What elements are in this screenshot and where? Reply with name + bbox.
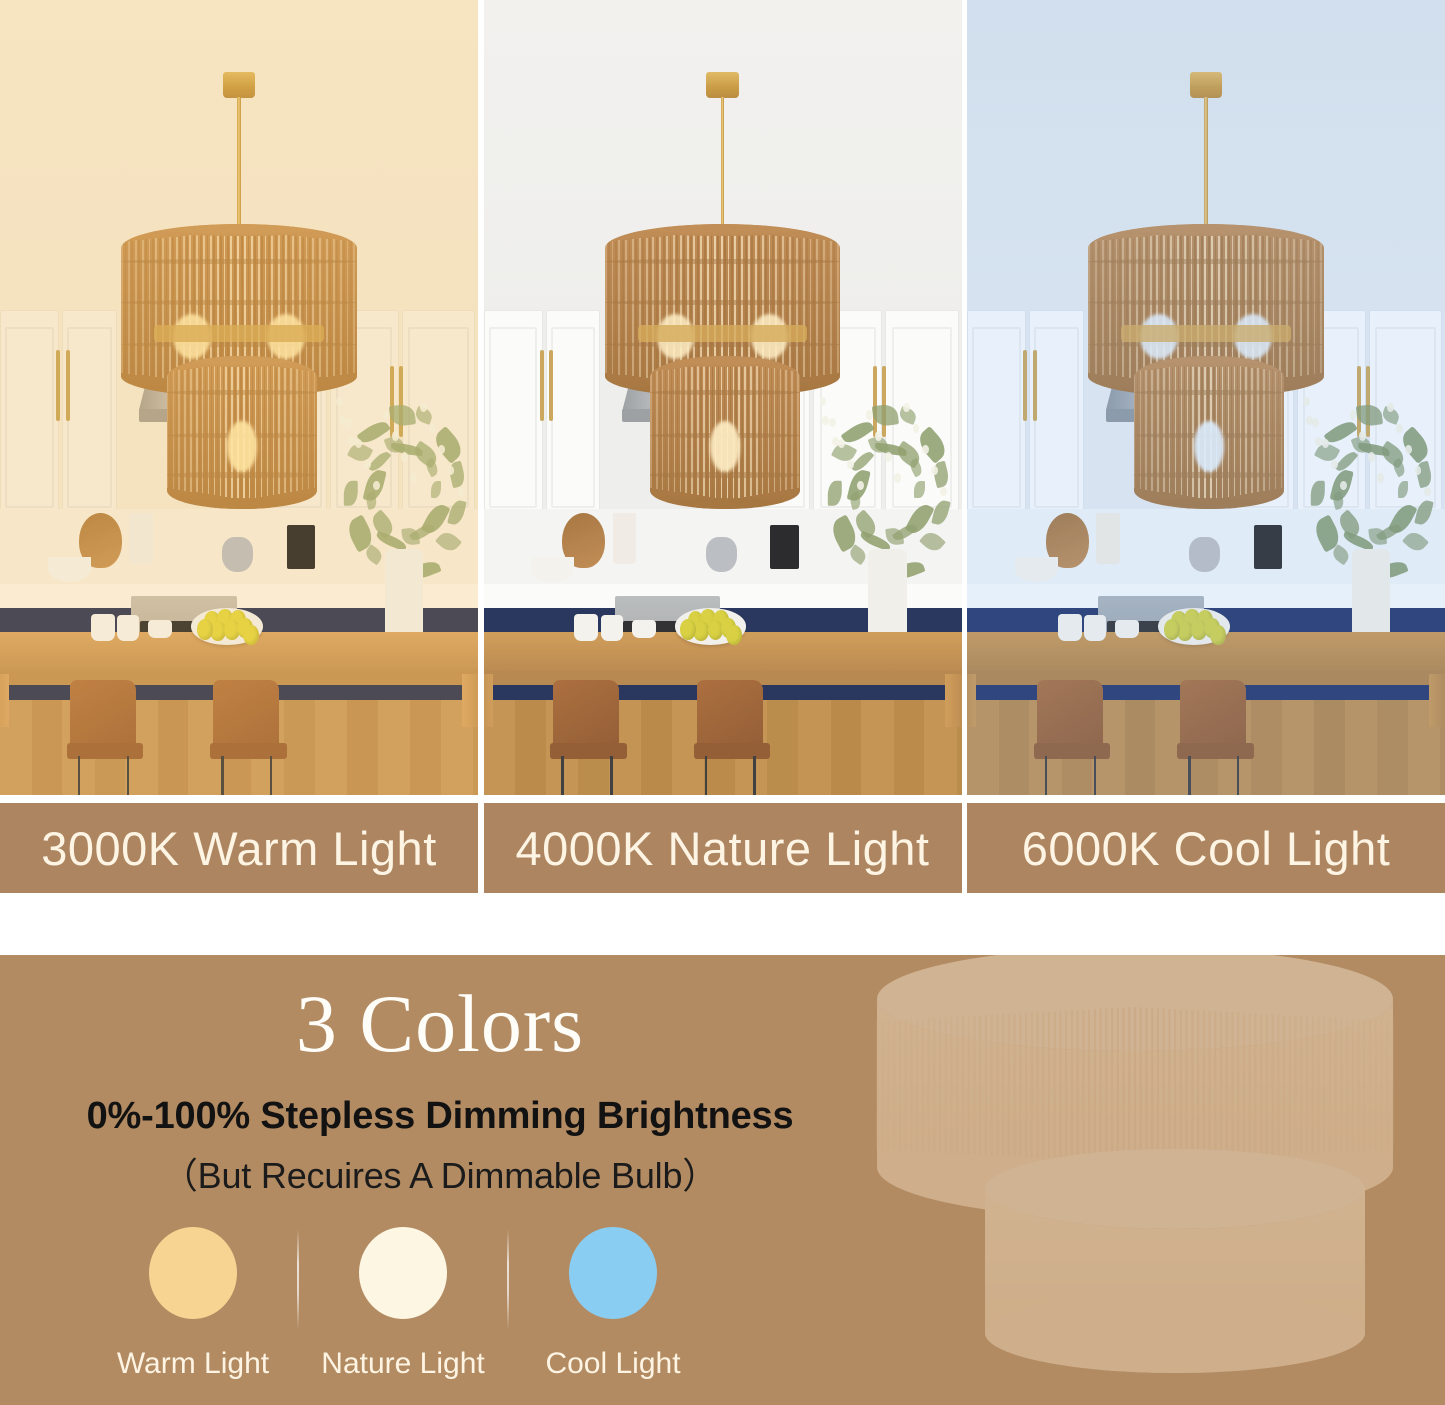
chandelier: [589, 72, 857, 581]
feature-title: 3 Colors: [0, 977, 880, 1071]
label-band-warm: 3000K Warm Light: [0, 803, 478, 893]
chandelier-watermark-icon: [815, 955, 1445, 1405]
label-warm: 3000K Warm Light: [41, 821, 437, 876]
comparison-panel-warm: 3000K Warm Light: [0, 0, 478, 893]
feature-copy: 3 Colors 0%-100% Stepless Dimming Bright…: [0, 955, 880, 1405]
swatch-dot-warm[interactable]: [149, 1227, 237, 1319]
color-swatch-group: Warm Light Nature Light Cool Light: [88, 1227, 778, 1387]
kitchen-photo-nature: [484, 0, 962, 795]
kitchen-scene-warm: [0, 0, 478, 795]
swatch-dot-cool[interactable]: [569, 1227, 657, 1319]
chandelier: [105, 72, 373, 581]
chandelier: [1072, 72, 1340, 581]
label-nature: 4000K Nature Light: [515, 821, 929, 876]
feature-panel: 3 Colors 0%-100% Stepless Dimming Bright…: [0, 955, 1445, 1405]
swatch-label-cool: Cool Light: [545, 1347, 680, 1381]
swatch-warm[interactable]: Warm Light: [88, 1227, 298, 1381]
kitchen-photo-cool: [967, 0, 1445, 795]
kitchen-scene-cool: [967, 0, 1445, 795]
feature-subtitle: 0%-100% Stepless Dimming Brightness: [0, 1095, 880, 1138]
color-temperature-comparison: 3000K Warm Light 4000K Nature Light 6000…: [0, 0, 1445, 893]
swatch-dot-nature[interactable]: [359, 1227, 447, 1319]
comparison-panel-cool: 6000K Cool Light: [967, 0, 1445, 893]
swatch-label-nature: Nature Light: [321, 1347, 484, 1381]
product-feature-image: 3000K Warm Light 4000K Nature Light 6000…: [0, 0, 1445, 1405]
label-cool: 6000K Cool Light: [1022, 821, 1391, 876]
comparison-panel-nature: 4000K Nature Light: [484, 0, 962, 893]
kitchen-photo-warm: [0, 0, 478, 795]
feature-note: （But Recuires A Dimmable Bulb）: [0, 1147, 880, 1199]
swatch-nature[interactable]: Nature Light: [298, 1227, 508, 1381]
label-band-nature: 4000K Nature Light: [484, 803, 962, 893]
kitchen-scene-nature: [484, 0, 962, 795]
swatch-cool[interactable]: Cool Light: [508, 1227, 718, 1381]
label-band-cool: 6000K Cool Light: [967, 803, 1445, 893]
swatch-label-warm: Warm Light: [117, 1347, 269, 1381]
